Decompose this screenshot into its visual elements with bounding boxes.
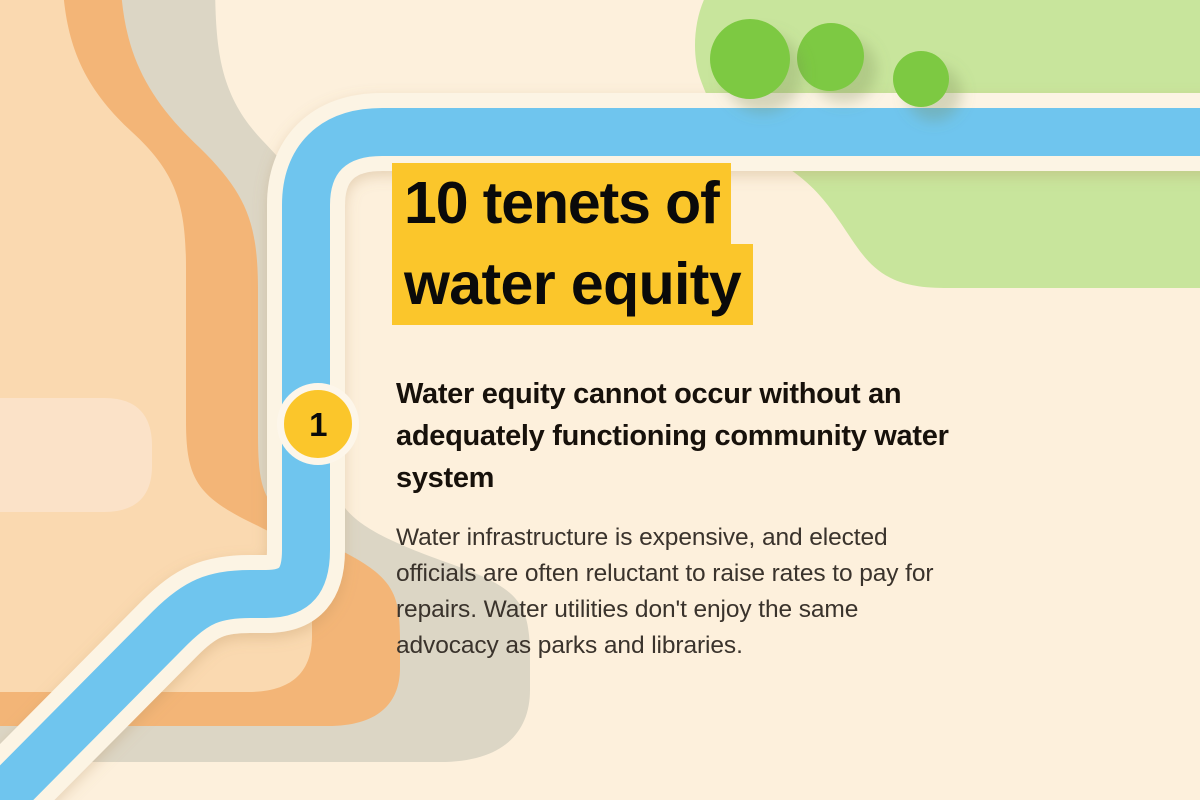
tenet-number-badge: 1 [277, 383, 359, 465]
tenet-body: Water infrastructure is expensive, and e… [396, 520, 941, 664]
tenet-text-column: Water equity cannot occur without an ade… [396, 373, 956, 664]
infographic-poster: 10 tenets of water equity 1 Water equity… [0, 0, 1200, 800]
tenet-number: 1 [309, 408, 327, 441]
page-title: 10 tenets of water equity [392, 163, 753, 325]
tenet-heading: Water equity cannot occur without an ade… [396, 373, 956, 499]
content-layer: 10 tenets of water equity 1 Water equity… [0, 0, 1200, 800]
page-title-line-1: 10 tenets of [392, 163, 731, 244]
page-title-line-2: water equity [392, 244, 753, 325]
